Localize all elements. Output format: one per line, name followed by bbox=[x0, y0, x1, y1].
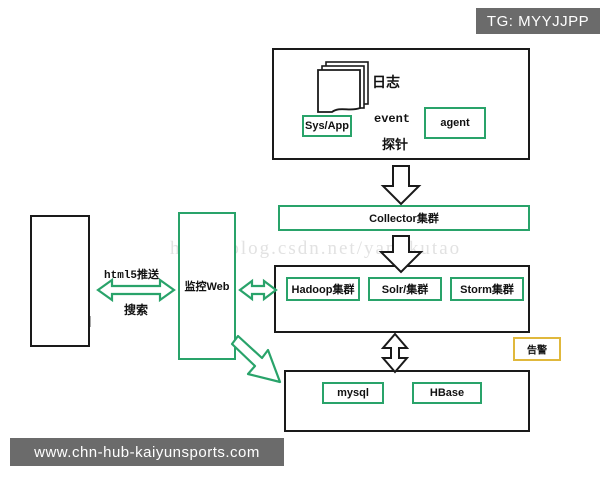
solr-cluster-label: Solr/集群 bbox=[370, 281, 440, 297]
monitor-web-box[interactable]: 监控Web bbox=[178, 212, 236, 360]
monitor-compute-double-arrow bbox=[240, 281, 276, 299]
storm-cluster-label: Storm集群 bbox=[452, 281, 522, 297]
alert-label: 告警 bbox=[515, 342, 559, 357]
hbase-label: HBase bbox=[414, 387, 480, 399]
probe-label: 探针 bbox=[382, 134, 408, 153]
site-watermark-badge: www.chn-hub-kaiyunsports.com bbox=[10, 438, 284, 466]
sys-app-label: Sys/App bbox=[304, 120, 350, 132]
monitor-web-label: 监控Web bbox=[180, 278, 234, 294]
tg-watermark-badge: TG: MYYJJPP bbox=[476, 8, 600, 34]
collector-cluster-label: Collector集群 bbox=[280, 210, 528, 226]
node-to-collector-arrow bbox=[383, 166, 419, 204]
agent-box[interactable]: agent bbox=[424, 107, 486, 139]
compute-to-storage-double-arrow bbox=[383, 334, 407, 372]
solr-cluster-box[interactable]: Solr/集群 bbox=[368, 277, 442, 301]
collector-cluster-box[interactable]: Collector集群 bbox=[278, 205, 530, 231]
mysql-box[interactable]: mysql bbox=[322, 382, 384, 404]
hbase-box[interactable]: HBase bbox=[412, 382, 482, 404]
diagram-canvas: http://blog.csdn.net/yangkutao Node 日志 S… bbox=[0, 0, 600, 480]
monitor-to-storage-diagonal-arrow bbox=[232, 336, 280, 382]
sys-app-box[interactable]: Sys/App bbox=[302, 115, 352, 137]
html5-push-label: html5推送 bbox=[104, 266, 159, 282]
storage-section-box bbox=[284, 370, 530, 432]
hadoop-cluster-box[interactable]: Hadoop集群 bbox=[286, 277, 360, 301]
logs-label: 日志 bbox=[372, 72, 400, 92]
mysql-label: mysql bbox=[324, 387, 382, 399]
agent-label: agent bbox=[426, 117, 484, 129]
webui-monitor-double-arrow bbox=[98, 280, 174, 300]
event-label: event bbox=[374, 112, 410, 126]
search-label: 搜索 bbox=[124, 301, 148, 318]
alert-box[interactable]: 告警 bbox=[513, 337, 561, 361]
webui-box[interactable] bbox=[30, 215, 90, 347]
storm-cluster-box[interactable]: Storm集群 bbox=[450, 277, 524, 301]
hadoop-cluster-label: Hadoop集群 bbox=[288, 281, 358, 297]
